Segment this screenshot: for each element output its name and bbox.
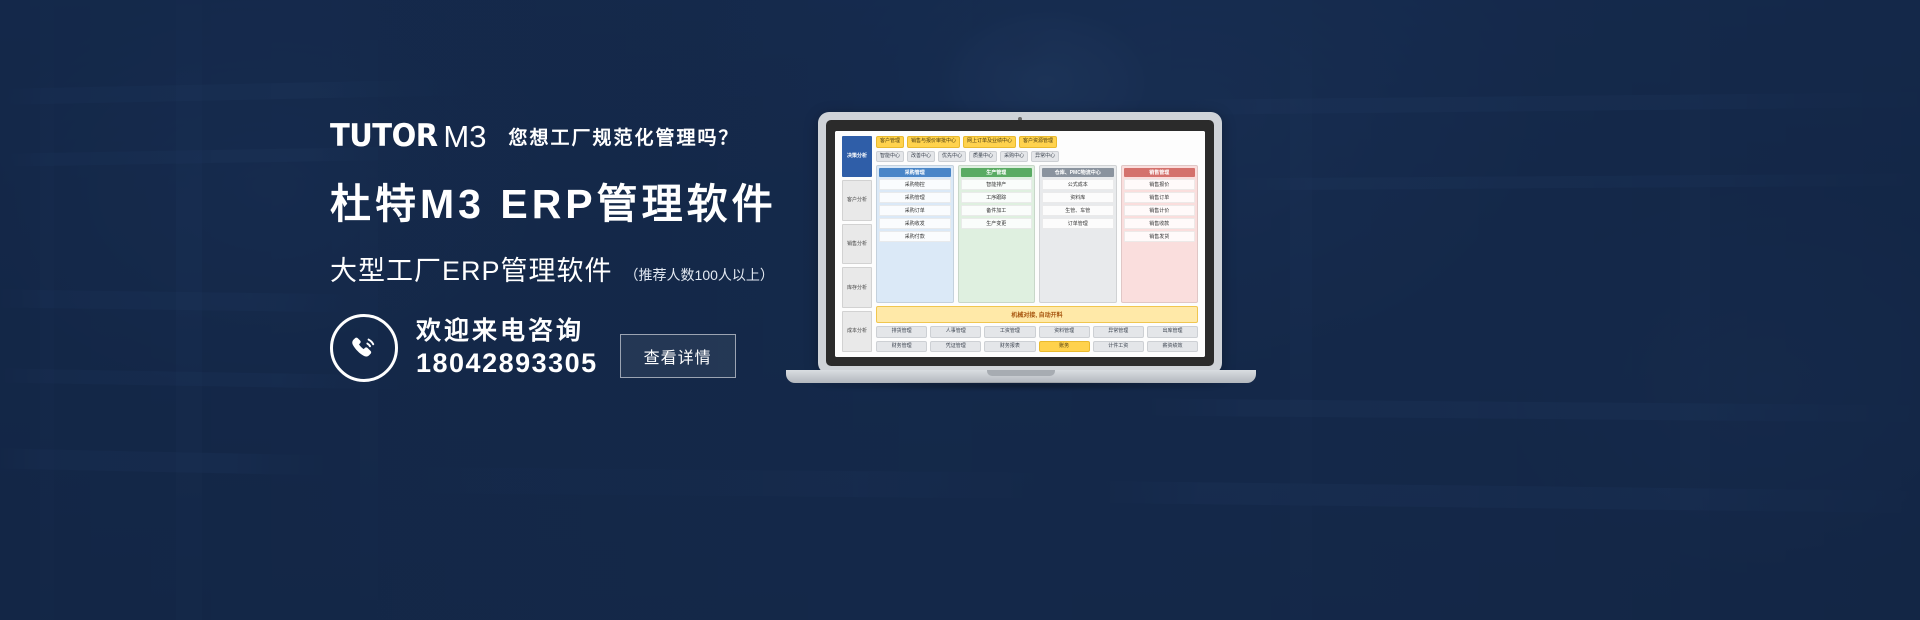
erp-chip: 客户管理 xyxy=(876,136,904,148)
erp-panel-logistics: 仓库、PMC物流中心 公式成本 资料库 生管、车管 订单管理 xyxy=(1039,165,1117,303)
erp-panel-item: 工序跟踪 xyxy=(961,192,1033,203)
erp-highlight-bar: 机械对接, 自动开料 xyxy=(876,306,1198,323)
erp-finance-row: 财务管理 凭证管理 财务报表 账务 计件工资 薪资绩效 xyxy=(876,341,1198,353)
erp-chip: 账务 xyxy=(1039,341,1090,353)
laptop-notch xyxy=(987,370,1055,376)
erp-chip: 薪资绩效 xyxy=(1147,341,1198,353)
erp-panel-item: 销售订单 xyxy=(1124,192,1196,203)
erp-chip: 优先中心 xyxy=(938,151,966,163)
erp-panel-item: 采购付款 xyxy=(879,231,951,242)
erp-panel-item: 公式成本 xyxy=(1042,179,1114,190)
laptop-shadow xyxy=(782,382,1260,391)
erp-chip: 财务报表 xyxy=(984,341,1035,353)
erp-chip: 出库管理 xyxy=(1147,326,1198,338)
erp-panel-item: 销售计价 xyxy=(1124,205,1196,216)
hero-banner: TUTOR M3 您想工厂规范化管理吗？ 杜特M3 ERP管理软件 大型工厂ER… xyxy=(0,0,1920,620)
laptop-lid: 决策分析 客户分析 销售分析 库存分析 成本分析 客户管理 销售与报价审批中心 xyxy=(818,112,1222,374)
erp-panel-purchase: 采购管理 采购物控 采购管理 采购订单 采购收发 采购付款 xyxy=(876,165,954,303)
erp-left-item: 销售分析 xyxy=(842,224,872,265)
erp-chip: 财务管理 xyxy=(876,341,927,353)
erp-panel-item: 备件加工 xyxy=(961,205,1033,216)
laptop-mockup: 决策分析 客户分析 销售分析 库存分析 成本分析 客户管理 销售与报价审批中心 xyxy=(786,112,1256,394)
view-details-button[interactable]: 查看详情 xyxy=(620,334,736,378)
erp-left-item: 客户分析 xyxy=(842,180,872,221)
erp-panel-item: 采购收发 xyxy=(879,218,951,229)
hero-subtitle-main: 大型工厂ERP管理软件 xyxy=(330,249,613,288)
erp-chip: 计件工资 xyxy=(1093,341,1144,353)
brand-logo: TUTOR M3 您想工厂规范化管理吗？ xyxy=(330,118,850,154)
erp-panel-item: 生产变更 xyxy=(961,218,1033,229)
erp-panel-item: 销售发货 xyxy=(1124,231,1196,242)
contact-text: 欢迎来电咨询 18042893305 xyxy=(416,316,598,381)
erp-chip: 排货管理 xyxy=(876,326,927,338)
erp-chip: 采购中心 xyxy=(1000,151,1028,163)
erp-panel-item: 智能排产 xyxy=(961,179,1033,190)
erp-chip: 质量中心 xyxy=(969,151,997,163)
erp-panel-item: 采购物控 xyxy=(879,179,951,190)
laptop-bezel: 决策分析 客户分析 销售分析 库存分析 成本分析 客户管理 销售与报价审批中心 xyxy=(826,120,1214,366)
erp-chip: 销售与报价审批中心 xyxy=(907,136,960,148)
erp-panel-production: 生产管理 智能排产 工序跟踪 备件加工 生产变更 xyxy=(958,165,1036,303)
erp-panel-item: 生管、车管 xyxy=(1042,205,1114,216)
contact-row: 欢迎来电咨询 18042893305 查看详情 xyxy=(330,314,736,382)
hero-headline: 杜特M3 ERP管理软件 xyxy=(330,180,850,229)
brand-logo-tutor: TUTOR xyxy=(330,121,438,152)
erp-chip: 异常管理 xyxy=(1093,326,1144,338)
hero-tagline: 您想工厂规范化管理吗？ xyxy=(508,123,739,150)
erp-customer-row: 客户管理 销售与报价审批中心 网上订单及业绩中心 客户资源管理 xyxy=(876,136,1198,148)
erp-left-item: 决策分析 xyxy=(842,136,872,177)
erp-panel-header: 仓库、PMC物流中心 xyxy=(1042,168,1114,177)
erp-panel-item: 采购订单 xyxy=(879,205,951,216)
erp-chip: 工资管理 xyxy=(984,326,1035,338)
erp-left-item: 库存分析 xyxy=(842,267,872,308)
erp-chip: 网上订单及业绩中心 xyxy=(963,136,1016,148)
contact-label: 欢迎来电咨询 xyxy=(416,316,598,347)
erp-center-row: 智能中心 改善中心 优先中心 质量中心 采购中心 异常中心 xyxy=(876,151,1198,163)
erp-panels: 采购管理 采购物控 采购管理 采购订单 采购收发 采购付款 生产管理 xyxy=(876,165,1198,303)
erp-left-column: 决策分析 客户分析 销售分析 库存分析 成本分析 xyxy=(842,136,872,352)
brand-logo-m3: M3 xyxy=(443,121,486,152)
erp-right-area: 客户管理 销售与报价审批中心 网上订单及业绩中心 客户资源管理 智能中心 改善中… xyxy=(876,136,1198,352)
erp-panel-header: 采购管理 xyxy=(879,168,951,177)
erp-panel-item: 资料库 xyxy=(1042,192,1114,203)
erp-chip: 异常中心 xyxy=(1031,151,1059,163)
erp-chip: 客户资源管理 xyxy=(1019,136,1057,148)
hero-copy: TUTOR M3 您想工厂规范化管理吗？ 杜特M3 ERP管理软件 大型工厂ER… xyxy=(330,118,850,288)
erp-chip: 资料管理 xyxy=(1039,326,1090,338)
erp-panel-item: 采购管理 xyxy=(879,192,951,203)
erp-diagram: 决策分析 客户分析 销售分析 库存分析 成本分析 客户管理 销售与报价审批中心 xyxy=(835,131,1205,357)
erp-panel-sales: 销售管理 销售报价 销售订单 销售计价 销售收款 销售发货 xyxy=(1121,165,1199,303)
erp-panel-header: 生产管理 xyxy=(961,168,1033,177)
erp-left-item: 成本分析 xyxy=(842,311,872,352)
erp-chip: 凭证管理 xyxy=(930,341,981,353)
laptop-screen: 决策分析 客户分析 销售分析 库存分析 成本分析 客户管理 销售与报价审批中心 xyxy=(835,131,1205,357)
erp-bottom-row: 排货管理 人事管理 工资管理 资料管理 异常管理 出库管理 xyxy=(876,326,1198,338)
phone-ring-icon[interactable] xyxy=(330,314,398,382)
erp-panel-item: 订单管理 xyxy=(1042,218,1114,229)
erp-chip: 智能中心 xyxy=(876,151,904,163)
erp-chip: 改善中心 xyxy=(907,151,935,163)
contact-phone-number[interactable]: 18042893305 xyxy=(416,347,598,381)
erp-panel-header: 销售管理 xyxy=(1124,168,1196,177)
background-copy-panel xyxy=(300,0,860,620)
erp-panel-item: 销售收款 xyxy=(1124,218,1196,229)
hero-subtitle: 大型工厂ERP管理软件 （推荐人数100人以上） xyxy=(330,249,850,288)
erp-panel-item: 销售报价 xyxy=(1124,179,1196,190)
erp-chip: 人事管理 xyxy=(930,326,981,338)
hero-subtitle-note: （推荐人数100人以上） xyxy=(625,265,774,285)
